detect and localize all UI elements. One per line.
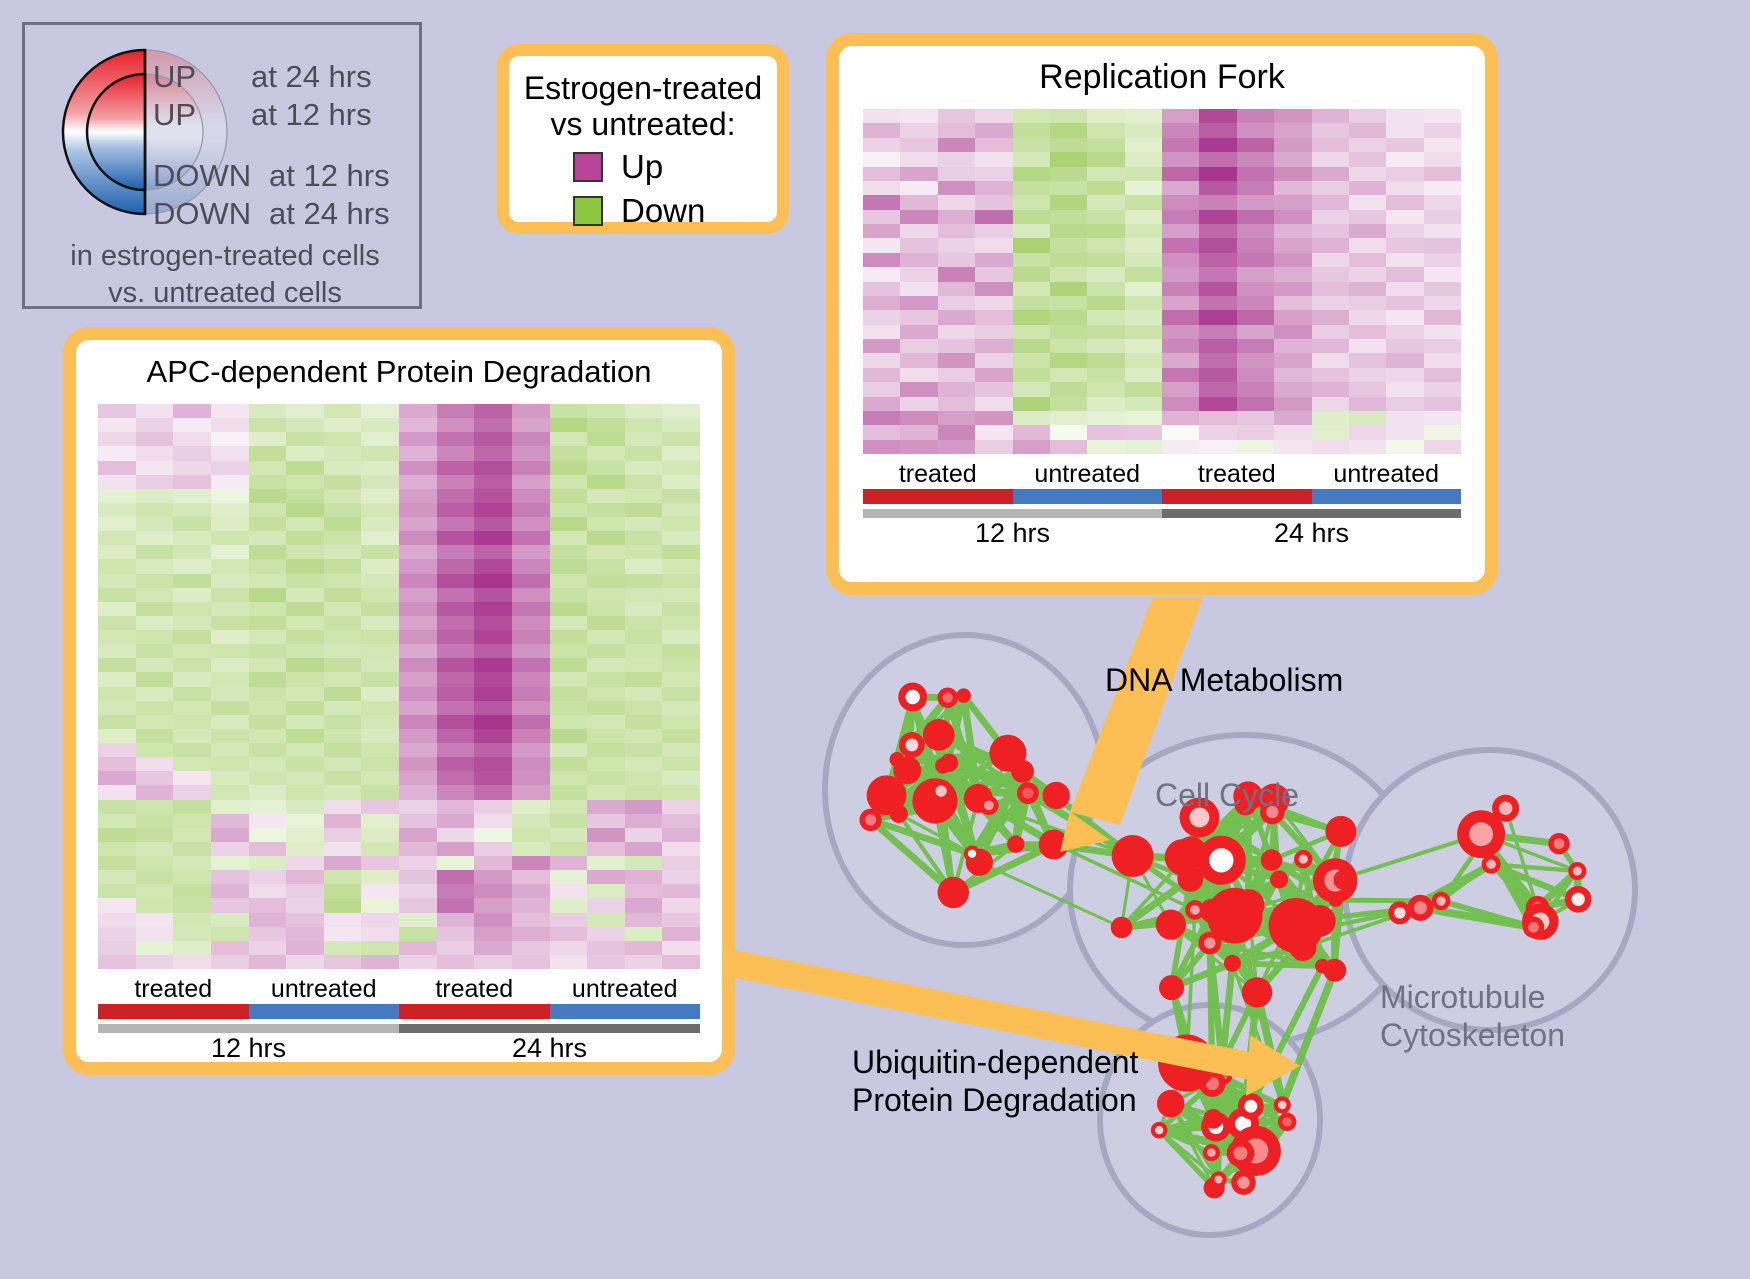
heatmap-cell [1312,109,1349,123]
heatmap-cell [136,913,174,927]
heatmap-cell [136,616,174,630]
heatmap-cell [173,842,211,856]
heatmap-cell [474,545,512,559]
heatmap-cell [1237,138,1274,152]
heatmap-cell [512,503,550,517]
heatmap-cell [1386,382,1423,396]
network-node[interactable] [1111,917,1132,938]
heatmap-cell [1050,397,1087,411]
network-node[interactable] [1203,1109,1223,1129]
heatmap-cell [662,800,700,814]
heatmap-cell [361,800,399,814]
heatmap-cell [136,842,174,856]
heatmap-cell [1237,195,1274,209]
heatmap-cell [1013,310,1050,324]
heatmap-cell [474,574,512,588]
heatmap-cell [437,757,475,771]
heatmap-cell [1424,382,1461,396]
network-node[interactable] [938,877,969,908]
heatmap-cell [550,545,588,559]
network-node[interactable] [930,780,953,803]
network-node[interactable] [1112,835,1154,877]
heatmap-cell [1424,238,1461,252]
network-node[interactable] [1159,975,1184,1000]
heatmap-cell [587,503,625,517]
heatmap-cell [324,503,362,517]
network-node[interactable] [890,805,908,823]
network-node[interactable] [1039,830,1069,860]
heatmap-cell [863,440,900,454]
heatmap-cell [1125,425,1162,439]
heatmap-cell [512,785,550,799]
network-node[interactable] [1523,917,1544,938]
heatmap-cell [1349,210,1386,224]
heatmap-cell [249,687,287,701]
heatmap-cell [136,701,174,715]
heatmap-cell [136,461,174,475]
heatmap-cell [1013,411,1050,425]
network-node[interactable] [1334,870,1354,890]
heatmap-cell [975,267,1012,281]
heatmap-cell [361,559,399,573]
heatmap-cell [249,856,287,870]
heatmap-cell [625,941,663,955]
network-node[interactable] [1017,782,1039,804]
network-node[interactable] [1293,918,1319,944]
heatmap-cell [1237,310,1274,324]
heatmap-cell [938,253,975,267]
heatmap-cell [938,353,975,367]
heatmap-cell [98,446,136,460]
heatmap-cell [625,658,663,672]
heatmap-cell [361,404,399,418]
heatmap-cell [550,884,588,898]
color-key-row-2-time: at 12 hrs [269,158,390,194]
network-node[interactable] [1294,850,1312,868]
heatmap-cell [863,138,900,152]
heatmap-cell [324,616,362,630]
heatmap-cell [324,842,362,856]
heatmap-cell [625,729,663,743]
network-node[interactable] [956,688,970,702]
heatmap-cell [211,559,249,573]
network-node[interactable] [899,732,925,758]
network-node[interactable] [1457,810,1505,858]
heatmap-cell [1424,267,1461,281]
heatmap-cell [286,489,324,503]
heatmap-cell [437,785,475,799]
network-node[interactable] [964,845,980,861]
heatmap-cell [625,588,663,602]
network-node[interactable] [893,756,921,784]
heatmap-cell [211,545,249,559]
heatmap-cell [211,574,249,588]
heatmap-cell [211,842,249,856]
heatmap-apc [98,404,700,969]
network-node[interactable] [898,682,927,711]
heatmap-cell [1199,411,1236,425]
heatmap-cell [587,517,625,531]
network-node[interactable] [1156,909,1186,939]
heatmap-cell [1162,397,1199,411]
heatmap-cell [863,368,900,382]
heatmap-cell [361,461,399,475]
heatmap-cell [136,531,174,545]
network-node[interactable] [923,719,955,751]
color-key-box: UP at 24 hrs UP at 12 hrs DOWN at 12 hrs… [22,22,422,309]
network-node[interactable] [1278,1113,1296,1131]
network-node[interactable] [1548,833,1569,854]
network-node[interactable] [1242,977,1272,1007]
heatmap-cell [136,955,174,969]
heatmap-cell [173,658,211,672]
heatmap-cell [1162,253,1199,267]
heatmap-cell [1312,440,1349,454]
heatmap-cell [1386,123,1423,137]
network-node[interactable] [1203,1144,1220,1161]
heatmap-cell [938,152,975,166]
network-node[interactable] [1177,866,1203,892]
heatmap-cell [900,325,937,339]
heatmap-cell [512,446,550,460]
heatmap-cell [975,181,1012,195]
heatmap-cell [1312,397,1349,411]
network-node[interactable] [1274,1096,1291,1113]
heatmap-cell [587,475,625,489]
heatmap-cell [324,559,362,573]
heatmap-cell [938,195,975,209]
heatmap-cell [399,898,437,912]
heatmap-cell [1312,382,1349,396]
heatmap-cell [173,602,211,616]
heatmap-cell [211,418,249,432]
heatmap-cell [863,397,900,411]
heatmap-cell [1274,382,1311,396]
heatmap-cell [550,475,588,489]
heatmap-cell [361,503,399,517]
heatmap-cell [437,588,475,602]
network-node[interactable] [1224,955,1241,972]
heatmap-cell [361,531,399,545]
heatmap-cell [136,545,174,559]
network-node[interactable] [1007,835,1024,852]
heatmap-cell [324,927,362,941]
network-node[interactable] [859,809,881,831]
heatmap-cell [1162,296,1199,310]
heatmap-cell [249,927,287,941]
heatmap-cell [1162,224,1199,238]
heatmap-cell [98,842,136,856]
heatmap-cell [587,559,625,573]
heatmap-cell [587,715,625,729]
heatmap-cell [662,644,700,658]
heatmap-cell [324,884,362,898]
heatmap-cell [1050,238,1087,252]
heatmap-cell [286,800,324,814]
network-node[interactable] [1388,901,1411,924]
heatmap-cell [1199,425,1236,439]
heatmap-cell [173,757,211,771]
heatmap-cell [98,729,136,743]
heatmap-cell [98,559,136,573]
network-node[interactable] [989,735,1026,772]
heatmap-cell [286,898,324,912]
heatmap-cell [1312,425,1349,439]
heatmap-cell [1087,282,1124,296]
heatmap-cell [512,489,550,503]
heatmap-cell [975,397,1012,411]
heatmap-cell [1087,238,1124,252]
heatmap-cell [550,658,588,672]
heatmap-cell [1274,296,1311,310]
heatmap-cell [211,913,249,927]
heatmap-cell [136,630,174,644]
heatmap-cell [1013,325,1050,339]
heatmap-cell [324,531,362,545]
heatmap-cell [361,884,399,898]
heatmap-cell [550,602,588,616]
network-node[interactable] [1158,1035,1215,1092]
time-color-bar [863,509,1162,518]
heatmap-cell [286,559,324,573]
heatmap-cell [587,672,625,686]
heatmap-cell [625,715,663,729]
heatmap-cell [136,856,174,870]
heatmap-cell [625,559,663,573]
heatmap-cell [211,870,249,884]
heatmap-cell [938,123,975,137]
heatmap-cell [173,814,211,828]
heatmap-cell [1087,210,1124,224]
network-node[interactable] [979,796,998,815]
heatmap-cell [211,785,249,799]
legend-title: Estrogen-treated vs untreated: [509,70,777,142]
heatmap-cell [286,701,324,715]
heatmap-cell [1125,152,1162,166]
network-node[interactable] [1233,889,1265,921]
heatmap-cell [136,800,174,814]
network-node[interactable] [1227,1139,1255,1167]
heatmap-cell [1274,210,1311,224]
heatmap-cell [1013,282,1050,296]
heatmap-cell [1087,224,1124,238]
heatmap-cell [211,432,249,446]
heatmap-cell [474,785,512,799]
condition-label: treated [1162,460,1312,489]
heatmap-cell [512,616,550,630]
heatmap-cell [512,531,550,545]
network-node[interactable] [937,687,957,707]
heatmap-cell [173,771,211,785]
heatmap-cell [662,757,700,771]
heatmap-cell [1013,210,1050,224]
heatmap-cell [625,531,663,545]
heatmap-cell [173,927,211,941]
heatmap-cell [550,446,588,460]
heatmap-cell [211,461,249,475]
heatmap-cell [1237,440,1274,454]
heatmap-cell [863,167,900,181]
network-node[interactable] [1261,849,1283,871]
heatmap-cell [1424,296,1461,310]
heatmap-cell [975,282,1012,296]
network-node[interactable] [1198,932,1221,955]
network-node[interactable] [1185,900,1205,920]
color-key-row-0-time: at 24 hrs [251,59,372,95]
heatmap-cell [900,296,937,310]
heatmap-cell [474,856,512,870]
heatmap-cell [975,224,1012,238]
heatmap-cell [98,955,136,969]
heatmap-cell [98,531,136,545]
heatmap-cell [587,771,625,785]
heatmap-cell [361,475,399,489]
heatmap-cell [211,898,249,912]
heatmap-cell [98,800,136,814]
heatmap-cell [173,545,211,559]
heatmap-cell [512,517,550,531]
heatmap-cell [587,898,625,912]
heatmap-cell [512,475,550,489]
heatmap-cell [437,446,475,460]
heatmap-cell [1013,368,1050,382]
heatmap-cell [662,785,700,799]
heatmap-cell [625,771,663,785]
network-node[interactable] [1329,893,1343,907]
heatmap-cell [1199,238,1236,252]
heatmap-cell [361,828,399,842]
heatmap-cell [286,602,324,616]
heatmap-cell [1237,109,1274,123]
heatmap-cell [1312,353,1349,367]
heatmap-cell [550,757,588,771]
heatmap-cell [136,870,174,884]
network-node[interactable] [1043,782,1070,809]
heatmap-cell [1312,152,1349,166]
heatmap-cell [98,898,136,912]
network-node[interactable] [1210,1171,1226,1187]
heatmap-cell [587,630,625,644]
heatmap-cell [437,602,475,616]
heatmap-cell [662,432,700,446]
heatmap-cell [1424,339,1461,353]
heatmap-cell [1237,368,1274,382]
network-node[interactable] [1238,1093,1264,1119]
heatmap-cell [1312,123,1349,137]
heatmap-cell [975,353,1012,367]
heatmap-cell [625,828,663,842]
heatmap-cell [1349,167,1386,181]
network-node[interactable] [1568,862,1586,880]
condition-color-bar [1013,489,1163,504]
heatmap-cell [437,418,475,432]
heatmap-cell [1199,181,1236,195]
heatmap-cell [399,630,437,644]
heatmap-cell [399,616,437,630]
heatmap-cell [1424,138,1461,152]
heatmap-cell [625,574,663,588]
heatmap-cell [361,785,399,799]
heatmap-cell [361,955,399,969]
heatmap-cell [1125,224,1162,238]
heatmap-cell [1424,210,1461,224]
heatmap-cell [1050,310,1087,324]
heatmap-cell [249,503,287,517]
network-node[interactable] [1407,895,1433,921]
network-node[interactable] [1325,816,1356,847]
network-node[interactable] [1175,836,1206,867]
heatmap-cell [587,785,625,799]
heatmap-cell [136,927,174,941]
heatmap-cell [249,800,287,814]
heatmap-cell [587,574,625,588]
heatmap-cell [1013,397,1050,411]
heatmap-cell [1237,167,1274,181]
heatmap-cell [1013,238,1050,252]
heatmap-cell [474,489,512,503]
heatmap-cell [249,828,287,842]
heatmap-cell [249,898,287,912]
heatmap-cell [587,828,625,842]
heatmap-cell [1349,138,1386,152]
heatmap-cell [399,545,437,559]
heatmap-cell [1125,123,1162,137]
heatmap-cell [863,310,900,324]
heatmap-cell [550,432,588,446]
network-node[interactable] [1432,892,1451,911]
heatmap-cell [1274,224,1311,238]
heatmap-cell [1386,296,1423,310]
network-node[interactable] [1565,886,1592,913]
heatmap-cell [286,828,324,842]
network-node[interactable] [935,758,951,774]
heatmap-cell [211,828,249,842]
heatmap-cell [625,517,663,531]
heatmap-cell [1199,325,1236,339]
heatmap-cell [1050,138,1087,152]
heatmap-cell [1125,382,1162,396]
heatmap-cell [136,559,174,573]
heatmap-cell [399,432,437,446]
heatmap-cell [1386,195,1423,209]
network-node[interactable] [1197,836,1246,885]
heatmap-cell [437,658,475,672]
heatmap-cell [863,282,900,296]
heatmap-cell [474,842,512,856]
heatmap-cell [1349,181,1386,195]
heatmap-cell [324,489,362,503]
cluster-label-ubiquitin-degradation: Ubiquitin-dependent Protein Degradation [852,1043,1138,1120]
network-node[interactable] [1157,1090,1185,1118]
heatmap-cell [98,418,136,432]
heatmap-cell [249,644,287,658]
network-node[interactable] [1151,1122,1168,1139]
heatmap-cell [662,828,700,842]
network-node[interactable] [1270,870,1288,888]
heatmap-cell [1087,325,1124,339]
heatmap-cell [587,616,625,630]
heatmap-cell [550,588,588,602]
heatmap-cell [550,955,588,969]
heatmap-cell [625,545,663,559]
heatmap-cell [98,913,136,927]
heatmap-cell [361,715,399,729]
heatmap-cell [361,870,399,884]
heatmap-cell [286,913,324,927]
heatmap-cell [512,856,550,870]
heatmap-cell [437,517,475,531]
network-node[interactable] [1315,959,1330,974]
